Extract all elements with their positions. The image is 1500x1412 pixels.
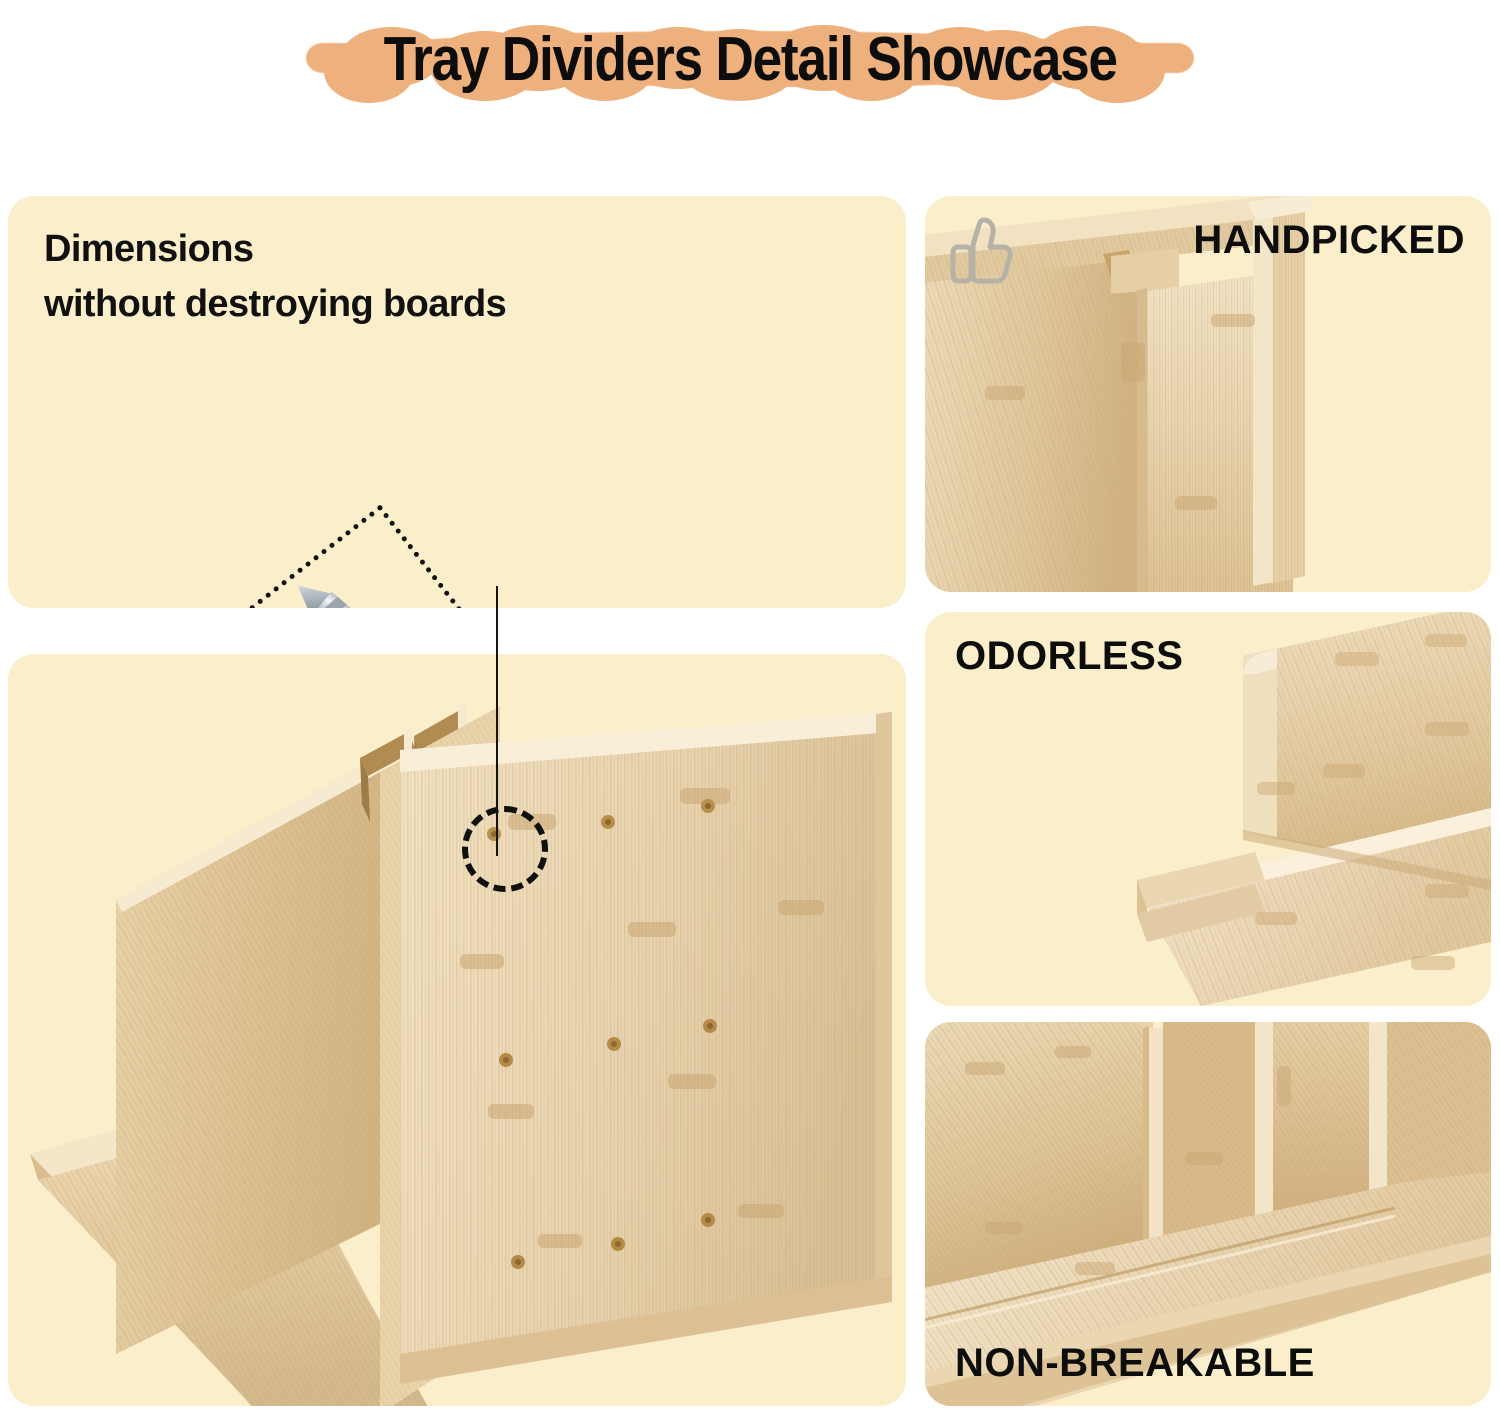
page-header: Tray Dividers Detail Showcase (0, 0, 1500, 120)
bamboo-tray-divider-photo (8, 654, 906, 1406)
main-product-panel (8, 654, 906, 1406)
nonbreakable-label: NON-BREAKABLE (955, 1341, 1315, 1386)
thumbs-up-icon (947, 214, 1019, 286)
title-stack: Tray Dividers Detail Showcase (324, 29, 1176, 91)
handpicked-label: HANDPICKED (1193, 218, 1465, 263)
odorless-panel: ODORLESS (925, 612, 1491, 1006)
page-title: Tray Dividers Detail Showcase (383, 29, 1116, 91)
dashed-circle-callout-icon (462, 806, 548, 892)
screw-icon (280, 564, 504, 608)
dimensions-heading: Dimensions without destroying boards (44, 222, 506, 332)
handpicked-panel: HANDPICKED (925, 196, 1491, 592)
dimensions-panel: Dimensions without destroying boards 20m… (8, 196, 906, 608)
nonbreakable-panel: NON-BREAKABLE (925, 1022, 1491, 1406)
leader-line-icon (496, 586, 498, 856)
odorless-label: ODORLESS (955, 634, 1183, 679)
